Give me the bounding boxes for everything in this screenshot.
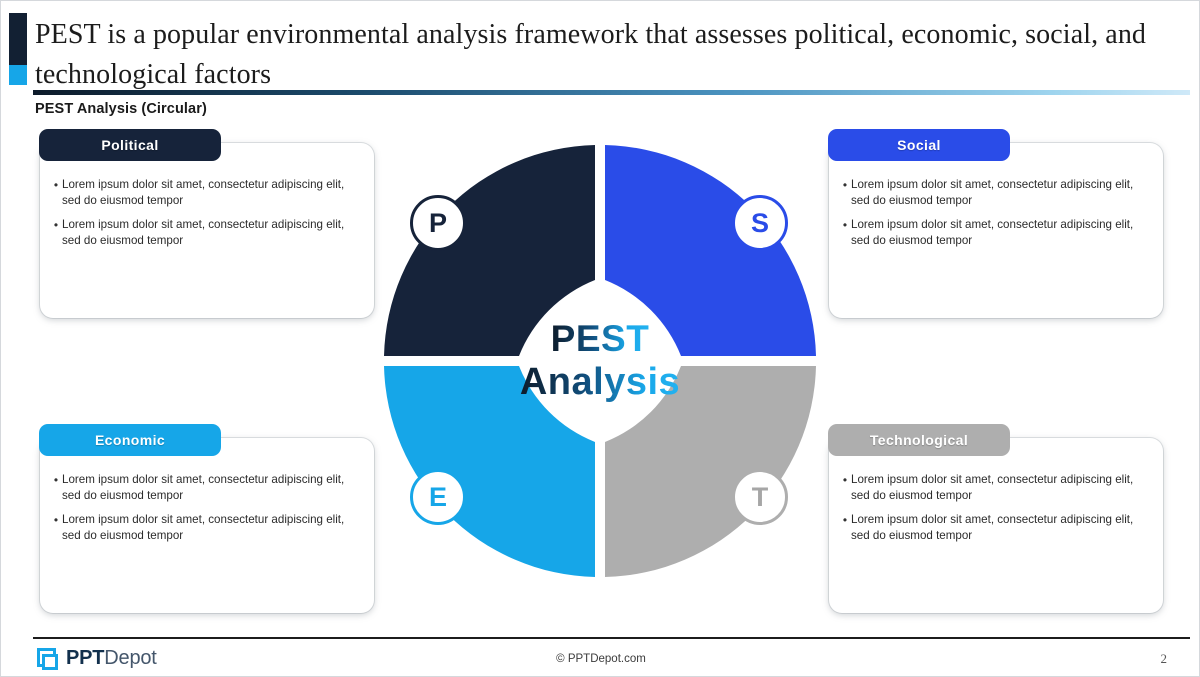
donut-badge-political[interactable]: P: [410, 195, 466, 251]
donut-segment-economic[interactable]: [384, 366, 595, 577]
bullet-text: Lorem ipsum dolor sit amet, consectetur …: [62, 512, 360, 543]
bullet-text: Lorem ipsum dolor sit amet, consectetur …: [62, 472, 360, 503]
list-item: • Lorem ipsum dolor sit amet, consectetu…: [50, 512, 360, 543]
list-item: • Lorem ipsum dolor sit amet, consectetu…: [839, 217, 1149, 248]
card-tab-social[interactable]: Social: [828, 129, 1010, 161]
list-item: • Lorem ipsum dolor sit amet, consectetu…: [839, 512, 1149, 543]
donut-segment-technological[interactable]: [605, 366, 816, 577]
card-tab-label: Economic: [95, 432, 165, 448]
quadrant-card-technological[interactable]: Technological • Lorem ipsum dolor sit am…: [829, 438, 1163, 613]
list-item: • Lorem ipsum dolor sit amet, consectetu…: [839, 472, 1149, 503]
card-body-economic: • Lorem ipsum dolor sit amet, consectetu…: [40, 464, 374, 552]
quadrant-card-social[interactable]: Social • Lorem ipsum dolor sit amet, con…: [829, 143, 1163, 318]
quadrant-card-political[interactable]: Political • Lorem ipsum dolor sit amet, …: [40, 143, 374, 318]
bullet-text: Lorem ipsum dolor sit amet, consectetur …: [851, 217, 1149, 248]
accent-bar-cyan-segment: [9, 65, 27, 85]
accent-bar-navy-segment: [9, 13, 27, 65]
page-number: 2: [1161, 651, 1168, 667]
bullet-icon: •: [50, 512, 62, 528]
donut-badge-social[interactable]: S: [732, 195, 788, 251]
card-body-technological: • Lorem ipsum dolor sit amet, consectetu…: [829, 464, 1163, 552]
bullet-icon: •: [839, 512, 851, 528]
card-tab-label: Social: [897, 137, 941, 153]
copyright-text: © PPTDepot.com: [1, 653, 1200, 665]
pest-donut-diagram: PEST Analysis P S E T: [384, 145, 816, 577]
quadrant-card-economic[interactable]: Economic • Lorem ipsum dolor sit amet, c…: [40, 438, 374, 613]
bullet-icon: •: [839, 177, 851, 193]
bullet-text: Lorem ipsum dolor sit amet, consectetur …: [62, 177, 360, 208]
bullet-icon: •: [50, 177, 62, 193]
card-tab-technological[interactable]: Technological: [828, 424, 1010, 456]
list-item: • Lorem ipsum dolor sit amet, consectetu…: [50, 472, 360, 503]
card-tab-political[interactable]: Political: [39, 129, 221, 161]
bullet-text: Lorem ipsum dolor sit amet, consectetur …: [62, 217, 360, 248]
list-item: • Lorem ipsum dolor sit amet, consectetu…: [50, 217, 360, 248]
title-divider: [33, 90, 1190, 95]
bullet-icon: •: [50, 472, 62, 488]
donut-badge-economic[interactable]: E: [410, 469, 466, 525]
page-title: PEST is a popular environmental analysis…: [35, 15, 1155, 95]
card-tab-label: Technological: [870, 432, 968, 448]
donut-badge-technological[interactable]: T: [732, 469, 788, 525]
bullet-icon: •: [839, 217, 851, 233]
footer-divider: [33, 637, 1190, 639]
card-tab-label: Political: [101, 137, 158, 153]
bullet-text: Lorem ipsum dolor sit amet, consectetur …: [851, 177, 1149, 208]
donut-segment-social[interactable]: [605, 145, 816, 356]
bullet-icon: •: [839, 472, 851, 488]
bullet-icon: •: [50, 217, 62, 233]
card-body-political: • Lorem ipsum dolor sit amet, consectetu…: [40, 169, 374, 257]
slide: PEST is a popular environmental analysis…: [0, 0, 1200, 677]
list-item: • Lorem ipsum dolor sit amet, consectetu…: [50, 177, 360, 208]
list-item: • Lorem ipsum dolor sit amet, consectetu…: [839, 177, 1149, 208]
bullet-text: Lorem ipsum dolor sit amet, consectetur …: [851, 472, 1149, 503]
bullet-text: Lorem ipsum dolor sit amet, consectetur …: [851, 512, 1149, 543]
card-tab-economic[interactable]: Economic: [39, 424, 221, 456]
donut-segment-political[interactable]: [384, 145, 595, 356]
card-body-social: • Lorem ipsum dolor sit amet, consectetu…: [829, 169, 1163, 257]
page-subtitle: PEST Analysis (Circular): [35, 101, 207, 117]
title-accent-bar: [9, 13, 27, 85]
